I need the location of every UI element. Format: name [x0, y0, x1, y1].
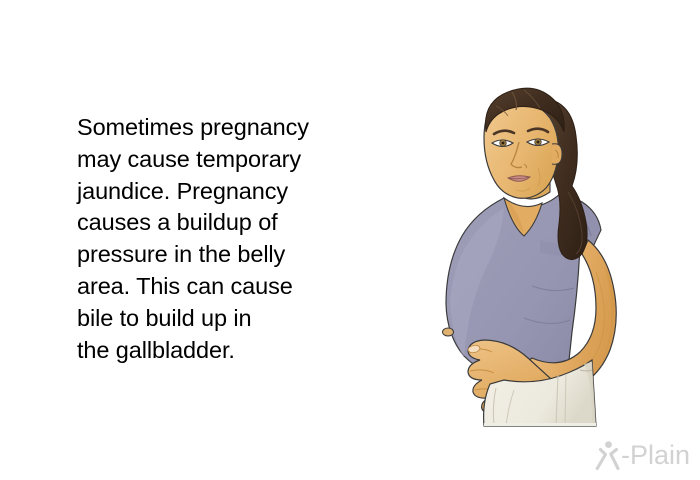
pupil-right	[537, 141, 540, 144]
logo-text: -Plain	[621, 442, 690, 469]
x-plain-figure-icon	[595, 440, 621, 470]
page-body-text: Sometimes pregnancy may cause temporary …	[77, 112, 377, 366]
x-plain-logo: -Plain	[595, 438, 690, 472]
slide-canvas: Sometimes pregnancy may cause temporary …	[0, 0, 700, 480]
navel-bump	[443, 328, 454, 336]
pupil-left	[502, 142, 505, 145]
figure-group	[443, 88, 617, 426]
pregnant-woman-illustration	[420, 40, 660, 430]
pregnant-woman-svg	[420, 40, 660, 430]
ear	[552, 144, 562, 165]
pants-crop-edge	[484, 423, 596, 426]
